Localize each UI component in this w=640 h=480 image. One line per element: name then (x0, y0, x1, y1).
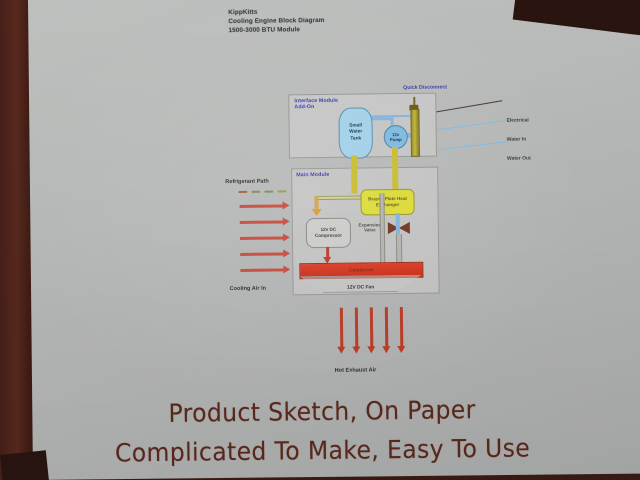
slide-caption: Product Sketch, On Paper Complicated To … (2, 388, 640, 474)
label-hot-exhaust-air: Hot Exhaust Air (335, 367, 377, 374)
cooling-air-arrow (240, 268, 284, 272)
pipe-hx-down (396, 213, 400, 235)
pipe-valve-to-condenser (396, 234, 402, 264)
hot-exhaust-arrow (355, 308, 359, 348)
block-diagram: Interface Module Add-On Main Module Quic… (283, 89, 438, 303)
water-in-line (436, 120, 506, 131)
hot-exhaust-arrow (340, 308, 344, 348)
cooling-air-arrow (240, 236, 284, 240)
arrow-compressor-to-condenser (326, 247, 329, 258)
hot-exhaust-arrow (385, 307, 389, 347)
title-line-3: 1500-3000 BTU Module (228, 25, 324, 35)
pipe-hx-to-compressor (314, 195, 362, 200)
main-module-label: Main Module (296, 172, 329, 179)
screenshot-root: KippKitts Cooling Engine Block Diagram 1… (0, 0, 640, 480)
slide-title-block: KippKitts Cooling Engine Block Diagram 1… (228, 7, 325, 36)
tank-label-line2: Water (349, 130, 362, 136)
flow-arrow-to-compressor (312, 209, 322, 216)
fan-label: 12V DC Fan (347, 285, 374, 290)
hot-exhaust-arrow (370, 307, 374, 347)
pump-label-line2: Pump (390, 137, 402, 142)
pipe-tank-to-hx (351, 156, 357, 194)
tank-label-line3: Tank (349, 136, 362, 142)
cooling-air-arrow (240, 204, 284, 208)
caption-line-2: Complicated To Make, Easy To Use (22, 427, 624, 473)
slide-content: KippKitts Cooling Engine Block Diagram 1… (0, 0, 640, 480)
label-cooling-air-in: Cooling Air In (230, 286, 267, 292)
cooling-air-arrow (240, 252, 284, 256)
label-water-in: Water In (507, 136, 527, 142)
label-water-out: Water Out (507, 155, 531, 161)
dc-compressor: 12v DC Compressor (306, 218, 351, 249)
label-refrigerant-path: Refrigerant Path (225, 179, 269, 186)
electrical-line (435, 100, 502, 113)
water-out-line (436, 141, 508, 151)
small-water-tank: Small Water Tank (338, 107, 373, 158)
interface-module-label-line2: Add-On (294, 104, 338, 111)
quick-disconnect-body (410, 109, 420, 157)
pipe-compressor-inlet (314, 196, 318, 210)
cooling-air-arrow (240, 220, 284, 224)
quick-disconnect-label: Quick Disconnect (403, 84, 447, 91)
pipe-condenser-return (379, 193, 385, 265)
condenser-label: Condenser (349, 268, 374, 273)
pipe-pump-to-hx (392, 147, 399, 193)
compressor-label-line2: Compressor (315, 233, 342, 239)
brazed-plate-heat-exchanger: Brazed Plate Heat Exchanger (360, 189, 414, 216)
hot-exhaust-arrow (400, 307, 404, 347)
interface-module-label: Interface Module Add-On (294, 98, 338, 111)
hx-label-line2: Exchanger (368, 202, 407, 208)
water-pump: 12v Pump (384, 125, 408, 149)
label-electrical: Electrical (507, 117, 529, 123)
